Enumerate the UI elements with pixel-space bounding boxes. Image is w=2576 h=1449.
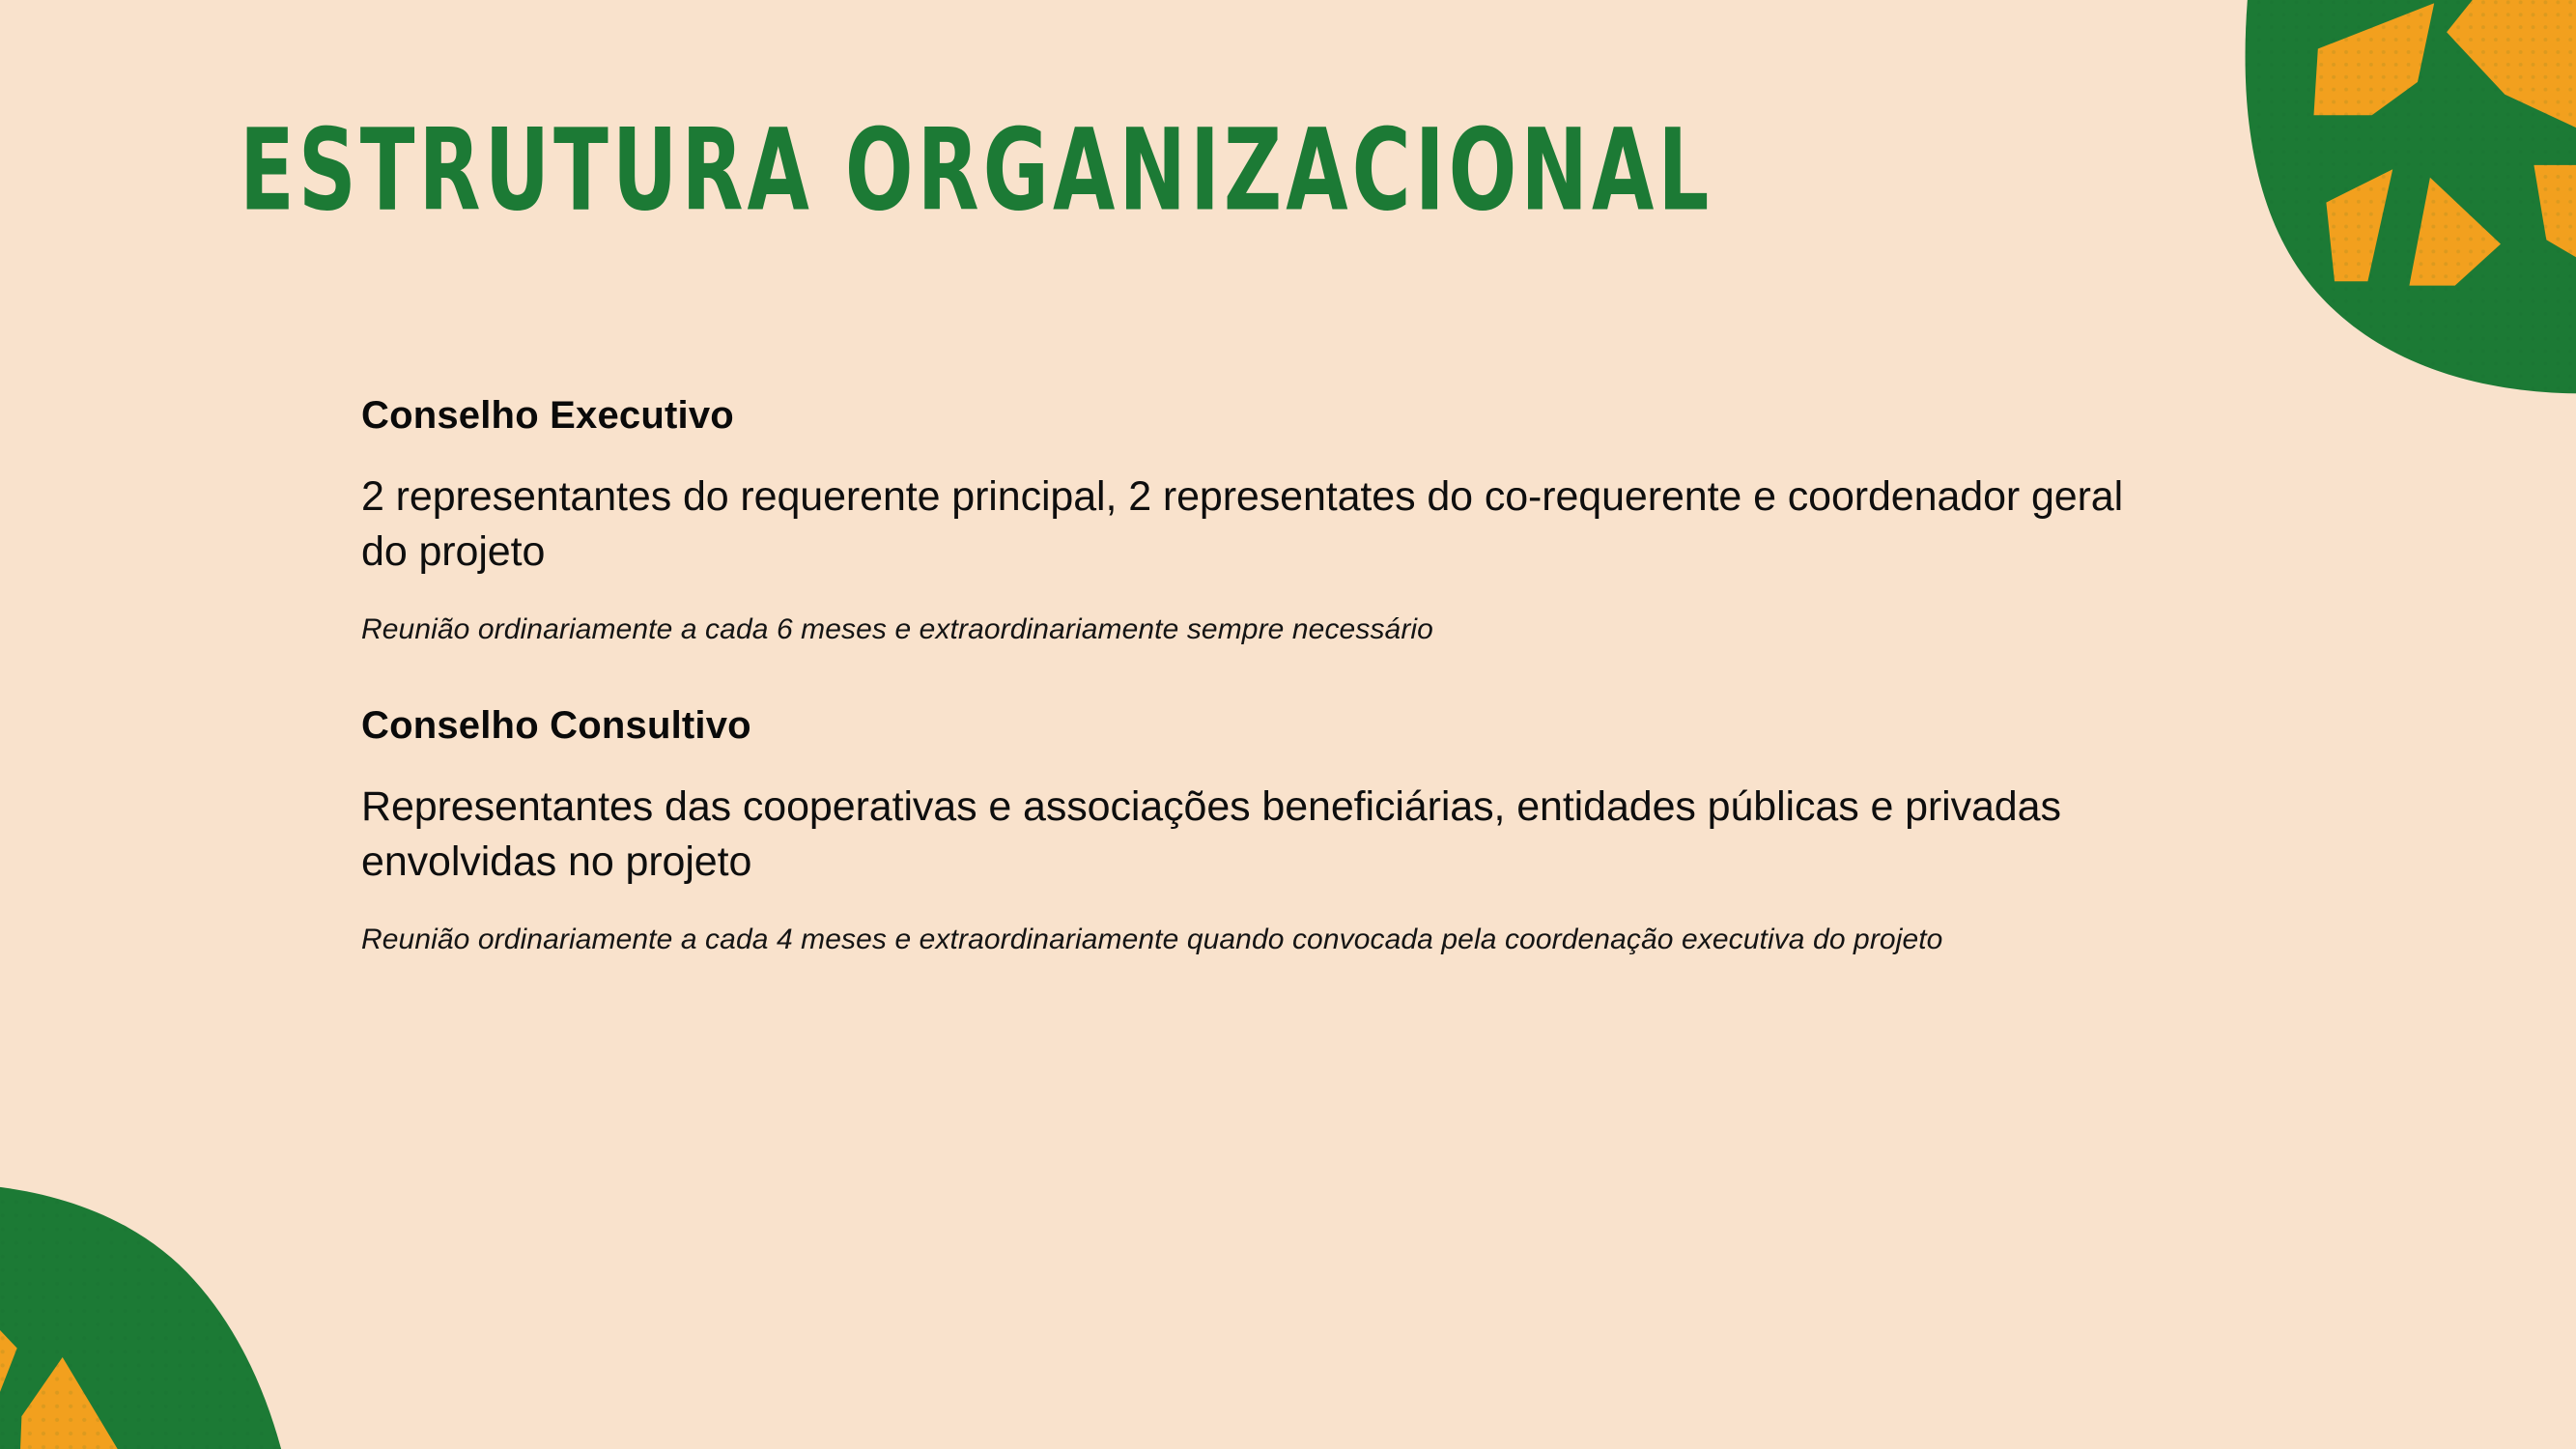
content-area: Conselho Executivo 2 representantes do r… — [361, 394, 2158, 962]
section-body-text: Representantes das cooperativas e associ… — [361, 780, 2138, 890]
section-note-text: Reunião ordinariamente a cada 4 meses e … — [361, 919, 1945, 961]
section-conselho-consultivo: Conselho Consultivo Representantes das c… — [361, 704, 2158, 962]
leaf-decoration-bottom-left — [0, 1130, 330, 1449]
section-heading: Conselho Consultivo — [361, 704, 2158, 747]
leaf-icon — [2168, 0, 2576, 402]
leaf-icon — [0, 1130, 330, 1449]
leaf-decoration-top-right — [2168, 0, 2576, 402]
slide-title: ESTRUTURA ORGANIZACIONAL — [240, 114, 1713, 226]
section-note-text: Reunião ordinariamente a cada 6 meses e … — [361, 609, 1945, 651]
section-body-text: 2 representantes do requerente principal… — [361, 469, 2138, 580]
section-heading: Conselho Executivo — [361, 394, 2158, 437]
section-conselho-executivo: Conselho Executivo 2 representantes do r… — [361, 394, 2158, 652]
slide-canvas: ESTRUTURA ORGANIZACIONAL Conselho Execut… — [0, 0, 2576, 1449]
